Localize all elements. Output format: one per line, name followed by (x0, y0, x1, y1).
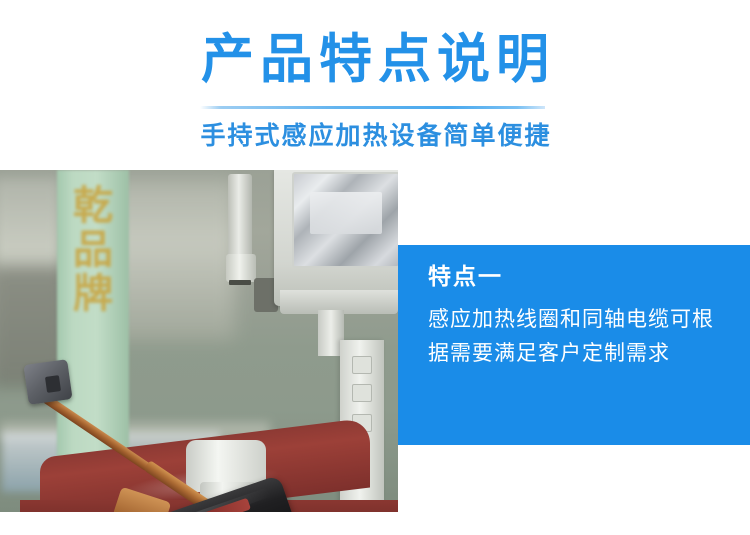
feature-heading: 特点一 (428, 261, 722, 291)
feature-panel: 特点一 感应加热线圈和同轴电缆可根据需要满足客户定制需求 (398, 245, 750, 445)
product-feature-banner: 产品特点说明 手持式感应加热设备简单便捷 乾 品 牌 (0, 0, 750, 535)
product-photo: 乾 品 牌 (0, 170, 398, 512)
title-divider (200, 106, 545, 109)
photo-scene: 乾 品 牌 (0, 170, 398, 512)
photo-pipe-tip (229, 280, 251, 285)
photo-coil-head-notch (45, 375, 61, 393)
page-subtitle: 手持式感应加热设备简单便捷 (0, 120, 750, 152)
photo-column-bolt-1 (352, 356, 372, 374)
pillar-character-1: 乾 (62, 184, 124, 228)
pillar-character-2: 品 (62, 228, 124, 272)
feature-description: 感应加热线圈和同轴电缆可根据需要满足客户定制需求 (428, 303, 718, 371)
photo-machine-screen-inner (310, 192, 382, 234)
photo-column-bolt-2 (352, 384, 372, 402)
header-section: 产品特点说明 手持式感应加热设备简单便捷 (0, 0, 750, 170)
pillar-character-3: 牌 (62, 272, 124, 316)
page-title: 产品特点说明 (0, 29, 750, 91)
photo-pipe-collar (226, 254, 256, 282)
